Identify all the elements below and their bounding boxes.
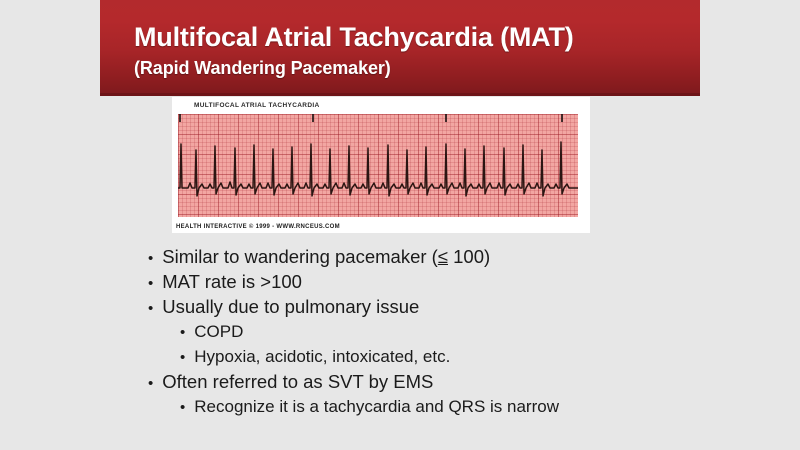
ecg-credit-line: HEALTH INTERACTIVE © 1999 - WWW.RNCEUS.C…	[176, 224, 340, 230]
less-than-or-equal-symbol: ≤	[438, 246, 448, 267]
bullet-text-post: 100)	[448, 246, 490, 267]
list-item-label: Often referred to as SVT by EMS	[162, 369, 433, 394]
bullet-marker-icon: •	[148, 276, 153, 291]
list-item: • Usually due to pulmonary issue	[148, 294, 693, 319]
ecg-rhythm-strip	[178, 114, 578, 217]
bullet-marker-icon: •	[148, 376, 153, 391]
bullet-marker-icon: •	[180, 350, 185, 365]
list-item: • Recognize it is a tachycardia and QRS …	[180, 394, 693, 419]
bullet-marker-icon: •	[148, 301, 153, 316]
list-item-label: COPD	[194, 319, 243, 344]
ecg-caption: MULTIFOCAL ATRIAL TACHYCARDIA	[194, 102, 320, 109]
list-item: • COPD	[180, 319, 693, 344]
bullet-marker-icon: •	[148, 251, 153, 266]
list-item: • Often referred to as SVT by EMS	[148, 369, 693, 394]
list-item-label: Hypoxia, acidotic, intoxicated, etc.	[194, 344, 450, 369]
ecg-figure: MULTIFOCAL ATRIAL TACHYCARDIA HEALTH INT…	[172, 97, 590, 233]
page-title: Multifocal Atrial Tachycardia (MAT)	[134, 22, 574, 53]
list-item-label: Recognize it is a tachycardia and QRS is…	[194, 394, 559, 419]
slide-body: MULTIFOCAL ATRIAL TACHYCARDIA HEALTH INT…	[100, 96, 700, 450]
ecg-trace-path	[178, 142, 578, 196]
bullet-marker-icon: •	[180, 400, 185, 415]
list-item-label: Usually due to pulmonary issue	[162, 294, 419, 319]
list-item: • Similar to wandering pacemaker (≤ 100)	[148, 244, 693, 269]
bullet-marker-icon: •	[180, 325, 185, 340]
ecg-waveform	[178, 114, 578, 217]
list-item: • Hypoxia, acidotic, intoxicated, etc.	[180, 344, 693, 369]
page-subtitle: (Rapid Wandering Pacemaker)	[134, 58, 391, 79]
list-item-label: Similar to wandering pacemaker (≤ 100)	[162, 244, 490, 269]
list-item: • MAT rate is >100	[148, 269, 693, 294]
list-item-label: MAT rate is >100	[162, 269, 302, 294]
slide-viewer: Multifocal Atrial Tachycardia (MAT) (Rap…	[0, 0, 800, 450]
bullet-list: • Similar to wandering pacemaker (≤ 100)…	[148, 244, 693, 419]
bullet-text-pre: Similar to wandering pacemaker (	[162, 246, 438, 267]
title-banner: Multifocal Atrial Tachycardia (MAT) (Rap…	[100, 0, 700, 96]
ecg-timing-ticks	[180, 114, 562, 122]
